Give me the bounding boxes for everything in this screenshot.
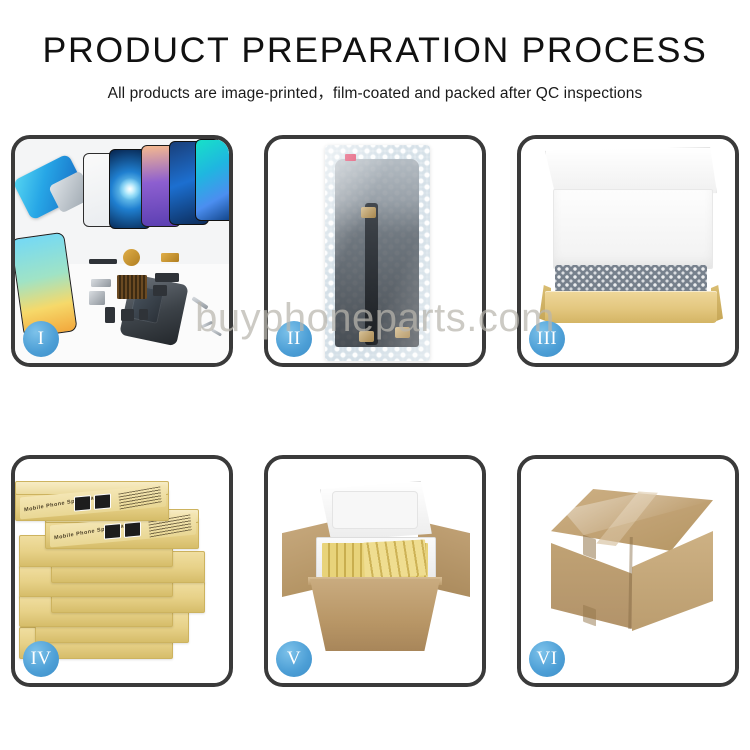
box-screen-art-top-a — [74, 495, 91, 511]
part-taptic-coil — [123, 249, 140, 266]
part-flex-connector — [161, 253, 179, 262]
step-badge-6: VI — [529, 641, 565, 677]
step-panel-6[interactable]: VI — [517, 455, 739, 687]
part-camera-module — [153, 285, 167, 296]
box-checklist-top — [118, 486, 161, 509]
step-badge-3: III — [529, 321, 565, 357]
carton-front-panel — [310, 579, 440, 651]
part-shield-can — [89, 291, 105, 305]
page-subtitle: All products are image-printed，film-coat… — [0, 81, 750, 103]
box-stack: Mobile Phone Spare Parts Mobile Phone Sp… — [15, 477, 229, 663]
page-header: PRODUCT PREPARATION PROCESS All products… — [0, 0, 750, 103]
part-speaker — [121, 309, 134, 321]
page-title: PRODUCT PREPARATION PROCESS — [0, 30, 750, 72]
step-panel-5[interactable]: V — [264, 455, 486, 687]
box-screen-art-top-b — [94, 493, 111, 509]
box-screen-art-front-a — [104, 523, 121, 539]
stacked-box-front: Mobile Phone Spare Parts — [45, 517, 199, 549]
step-panel-1[interactable]: I — [11, 135, 233, 367]
part-ic-array — [117, 275, 147, 299]
box-screen-art-front-b — [124, 521, 141, 537]
process-steps-grid: I II III — [0, 135, 750, 687]
step-badge-1: I — [23, 321, 59, 357]
part-bracket — [91, 279, 111, 287]
step-panel-3[interactable]: III — [517, 135, 739, 367]
part-vibrator — [139, 309, 148, 320]
part-button-flex — [105, 307, 115, 323]
step-panel-2[interactable]: II — [264, 135, 486, 367]
box-lid-open — [545, 147, 717, 195]
plastic-glare — [325, 145, 430, 361]
step-badge-2: II — [276, 321, 312, 357]
part-earpiece-mesh — [89, 259, 117, 264]
phone-screen-teal — [195, 139, 229, 221]
step-panel-4[interactable]: Mobile Phone Spare Parts Mobile Phone Sp… — [11, 455, 233, 687]
carton-handle-notch-top — [583, 535, 596, 560]
step-badge-4: IV — [23, 641, 59, 677]
yellow-boxes-row-angled — [363, 539, 427, 578]
foam-sheet — [553, 189, 713, 269]
step-badge-5: V — [276, 641, 312, 677]
box-front-kraft — [545, 291, 717, 323]
stacked-box-top: Mobile Phone Spare Parts — [15, 489, 169, 521]
styrofoam-lid — [320, 481, 432, 541]
part-flex-cable — [155, 273, 179, 282]
bubble-wrap-sleeve — [325, 145, 430, 361]
